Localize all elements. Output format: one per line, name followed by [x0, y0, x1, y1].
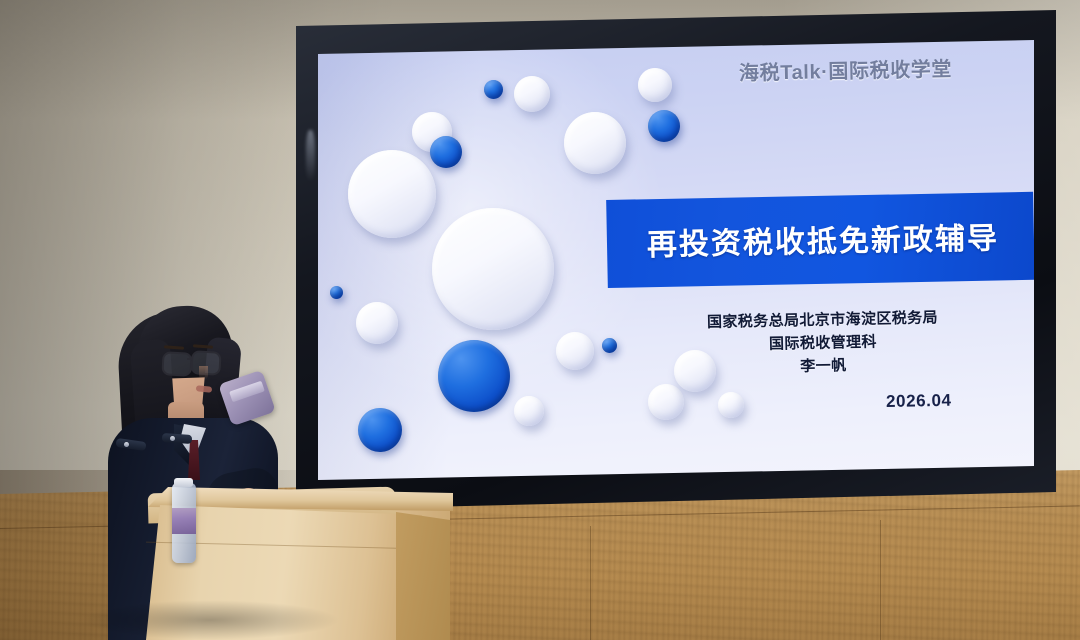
decor-disc — [356, 302, 398, 344]
decor-sphere — [358, 408, 402, 452]
decor-disc — [564, 112, 626, 174]
decor-sphere — [602, 338, 617, 353]
projection-screen: 海税Talk·国际税收学堂 再投资税收抵免新政辅导 国家税务总局北京市海淀区税务… — [296, 10, 1056, 510]
decor-disc — [718, 392, 744, 418]
decor-sphere — [484, 80, 503, 99]
epaulet-insignia — [170, 436, 175, 441]
slide-canvas: 海税Talk·国际税收学堂 再投资税收抵免新政辅导 国家税务总局北京市海淀区税务… — [318, 40, 1034, 480]
slide-credits: 国家税务总局北京市海淀区税务局 国际税收管理科 李一帆 — [657, 305, 988, 381]
decor-sphere — [330, 286, 343, 299]
decor-disc — [514, 76, 550, 112]
water-bottle-label — [172, 508, 196, 534]
decor-disc — [514, 396, 544, 426]
necktie — [188, 440, 200, 480]
slide-main-title: 再投资税收抵免新政辅导 — [646, 210, 1034, 275]
water-bottle-cap — [174, 478, 193, 487]
decor-sphere — [430, 136, 462, 168]
nose — [199, 366, 208, 380]
slide-kicker: 海税Talk·国际税收学堂 — [739, 51, 1030, 86]
decor-sphere — [438, 340, 510, 412]
decor-disc — [556, 332, 594, 370]
decor-sphere — [648, 110, 680, 142]
decor-disc — [648, 384, 684, 420]
wainscot-seam-vertical — [880, 520, 881, 640]
slide-date: 2026.04 — [886, 391, 952, 412]
epaulet-insignia — [124, 442, 129, 447]
wainscot-seam-vertical — [590, 526, 591, 640]
eyeglasses-bridge — [187, 358, 193, 360]
bezel-highlight — [306, 130, 315, 182]
floor-shadow — [80, 600, 340, 640]
photo-scene: 海税Talk·国际税收学堂 再投资税收抵免新政辅导 国家税务总局北京市海淀区税务… — [0, 0, 1080, 640]
decor-disc-large — [432, 208, 554, 330]
eyeglasses-lens — [161, 351, 192, 377]
decor-disc — [348, 150, 436, 238]
decor-disc — [638, 68, 672, 102]
podium-side-panel — [396, 512, 450, 640]
